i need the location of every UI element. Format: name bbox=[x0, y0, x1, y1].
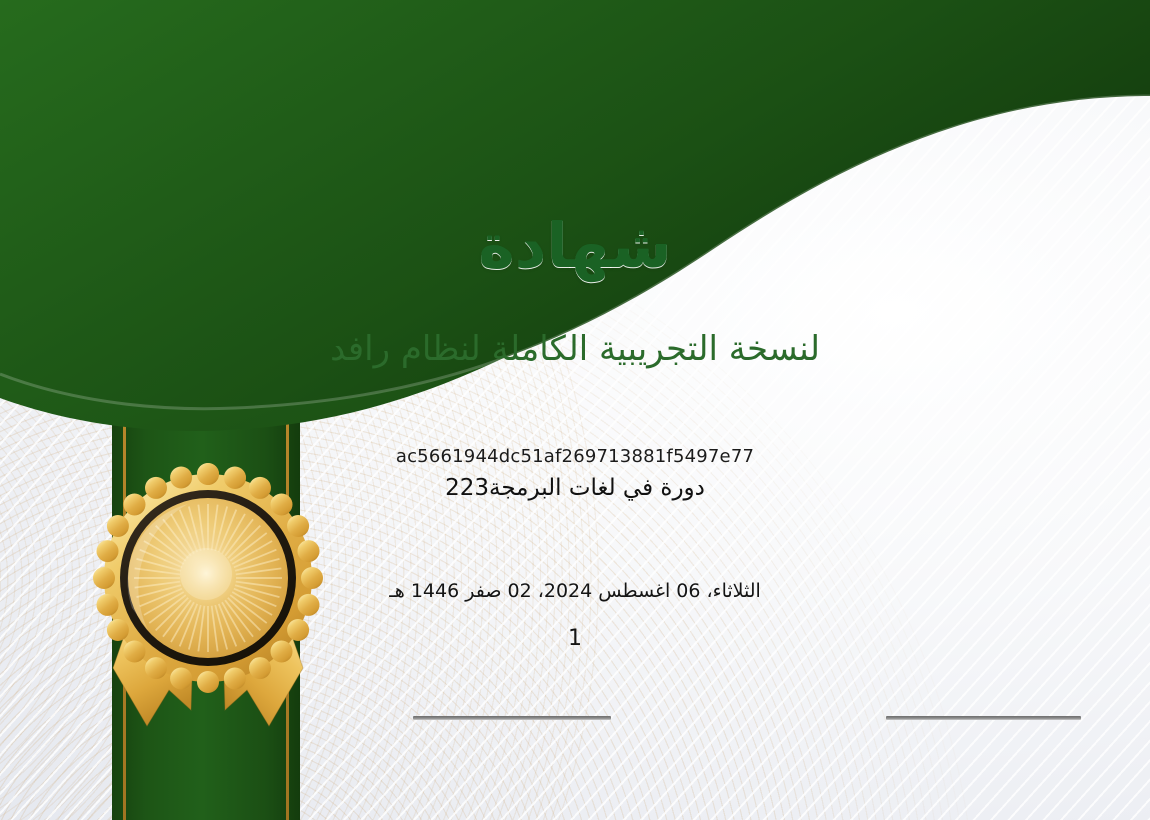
certificate-subtitle: لنسخة التجريبية الكاملة لنظام رافد bbox=[0, 328, 1150, 371]
signature-line-left bbox=[413, 716, 611, 720]
certificate-number: 1 bbox=[0, 626, 1150, 651]
certificate-hash: ac5661944dc51af269713881f5497e77 bbox=[0, 446, 1150, 467]
certificate-text-layer: شهادة لنسخة التجريبية الكاملة لنظام رافد… bbox=[0, 0, 1150, 820]
issue-date: الثلاثاء، 06 اغسطس 2024، 02 صفر 1446 هـ bbox=[0, 580, 1150, 602]
signature-line-right bbox=[886, 716, 1081, 720]
certificate-page: شهادة لنسخة التجريبية الكاملة لنظام رافد… bbox=[0, 0, 1150, 820]
course-name: دورة في لغات البرمجة223 bbox=[0, 475, 1150, 501]
page-title: شهادة bbox=[0, 212, 1150, 280]
